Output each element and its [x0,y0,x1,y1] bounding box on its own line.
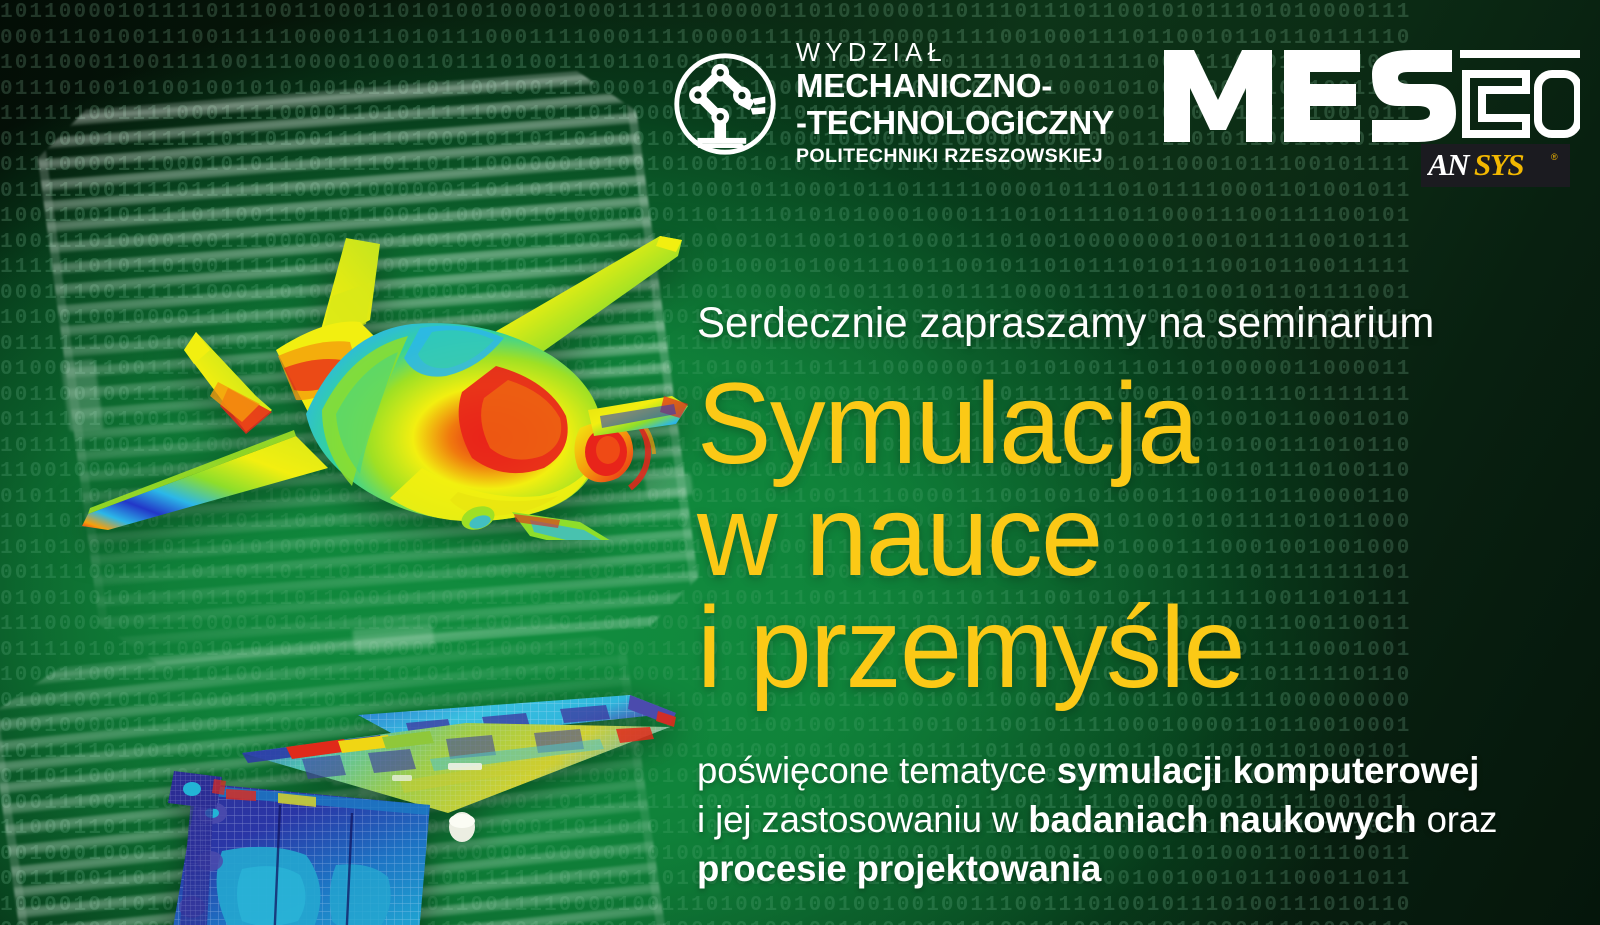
blurb-line-1: poświęcone tematyce symulacji komputerow… [697,746,1565,795]
blurb-line-2-plain-a: i jej zastosowaniu w [697,798,1028,840]
aircraft-cfd-pressure-plot [60,200,720,540]
faculty-line-2: MECHANICZNO- [796,68,1114,105]
faculty-line-1: WYDZIAŁ [796,38,1119,68]
faculty-logo: WYDZIAŁ MECHANICZNO- -TECHNOLOGICZNY POL… [672,38,1119,169]
headline: Symulacja w nauce i przemyśle [697,368,1587,704]
kicker-text: Serdecznie zapraszamy na seminarium [697,296,1565,350]
faculty-line-4: POLITECHNIKI RZESZOWSKIEJ [796,143,1119,169]
blurb-line-2-bold: badaniach naukowych [1028,798,1416,840]
fea-mesh-stress-plot [130,655,700,925]
robot-arm-icon [672,51,778,157]
blurb-line-3: procesie projektowania [697,844,1565,893]
blurb-line-1-bold: symulacji komputerowej [1057,749,1480,791]
mesco-logo: AN SYS ® [1160,44,1580,194]
headline-line-1: Symulacja [697,368,1560,480]
blurb-line-2-plain-b: oraz [1417,798,1498,840]
svg-text:®: ® [1551,152,1558,162]
invitation-copy: Serdecznie zapraszamy na seminarium Symu… [697,296,1587,893]
poster-canvas: 1011000010111101110011000110101001000010… [0,0,1600,925]
headline-line-2: w nauce [697,480,1560,592]
blurb: poświęcone tematyce symulacji komputerow… [697,746,1587,893]
headline-line-3: i przemyśle [697,592,1560,704]
svg-text:SYS: SYS [1474,149,1523,182]
blurb-line-3-bold: procesie projektowania [697,847,1101,889]
svg-text:AN: AN [1427,149,1471,182]
logo-row: WYDZIAŁ MECHANICZNO- -TECHNOLOGICZNY POL… [0,0,1600,200]
ansys-logo: AN SYS ® [1421,144,1570,187]
mesco-wordmark [1160,44,1580,148]
ghosted-ribbed-plate-lower [0,608,676,925]
blurb-line-2: i jej zastosowaniu w badaniach naukowych… [697,795,1565,844]
faculty-line-3: -TECHNOLOGICZNY [796,105,1114,142]
blurb-line-1-plain: poświęcone tematyce [697,749,1057,791]
faculty-logo-wordmark: WYDZIAŁ MECHANICZNO- -TECHNOLOGICZNY POL… [796,38,1119,169]
ansys-wordmark: AN SYS ® [1427,149,1564,182]
